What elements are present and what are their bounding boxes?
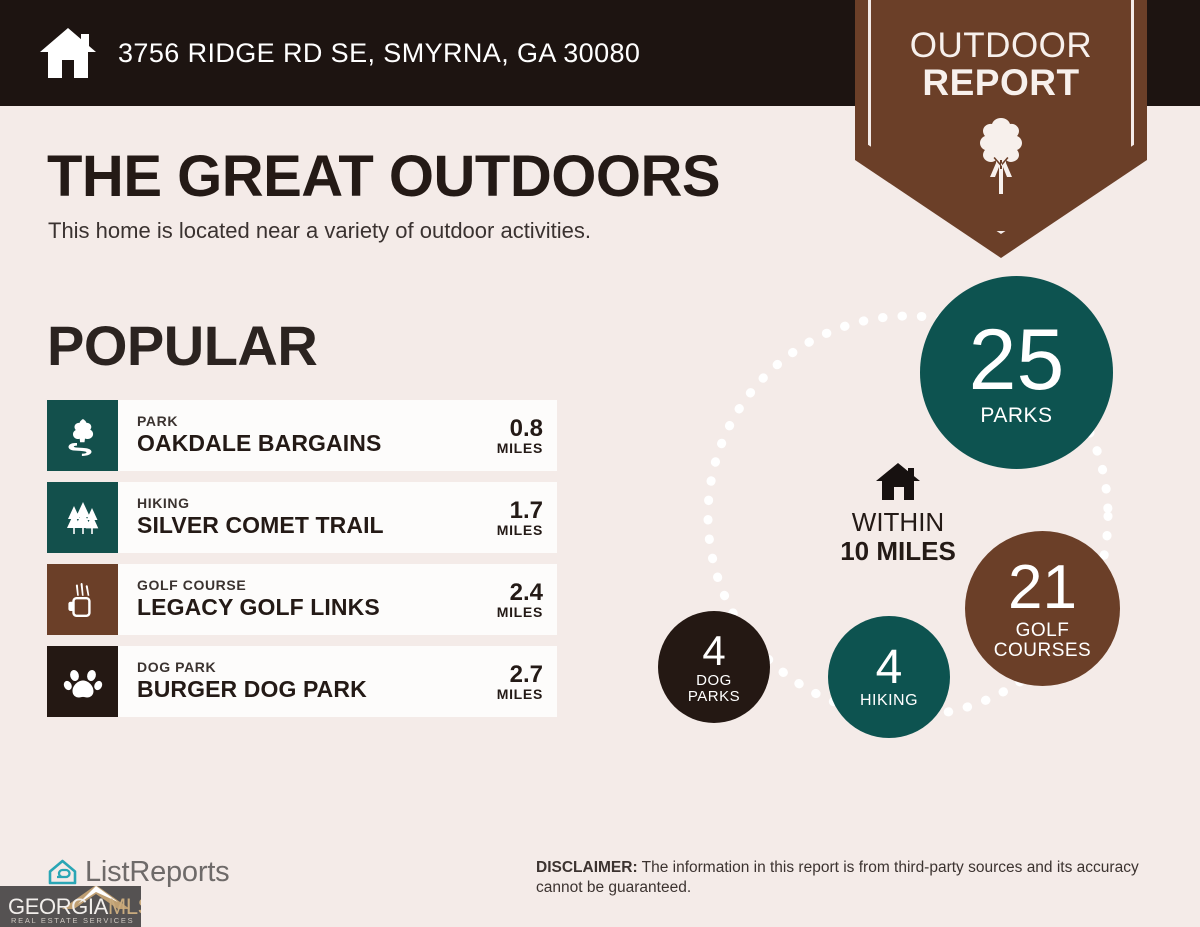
stat-label: HIKING bbox=[860, 693, 918, 710]
poi-distance: 0.8 MILES bbox=[497, 416, 543, 456]
park-tree-icon bbox=[63, 416, 103, 456]
house-outline-icon bbox=[47, 857, 78, 888]
poi-distance-value: 1.7 bbox=[497, 498, 543, 523]
poi-icon-tile bbox=[47, 482, 118, 553]
poi-distance: 1.7 MILES bbox=[497, 498, 543, 538]
outdoor-report-badge: OUTDOOR REPORT bbox=[855, 0, 1147, 258]
stat-count: 4 bbox=[702, 630, 725, 672]
poi-category: GOLF COURSE bbox=[137, 577, 380, 595]
poi-name: OAKDALE BARGAINS bbox=[137, 430, 381, 458]
stat-count: 21 bbox=[1008, 557, 1077, 619]
poi-distance-value: 0.8 bbox=[497, 416, 543, 441]
property-address: 3756 RIDGE RD SE, SMYRNA, GA 30080 bbox=[118, 38, 640, 69]
poi-name: SILVER COMET TRAIL bbox=[137, 512, 384, 540]
list-item[interactable]: GOLF COURSE LEGACY GOLF LINKS 2.4 MILES bbox=[47, 564, 557, 635]
poi-name: BURGER DOG PARK bbox=[137, 676, 367, 704]
poi-icon-tile bbox=[47, 646, 118, 717]
poi-distance: 2.4 MILES bbox=[497, 580, 543, 620]
poi-body: HIKING SILVER COMET TRAIL 1.7 MILES bbox=[118, 482, 557, 553]
stat-bubble-hiking[interactable]: 4 HIKING bbox=[828, 616, 950, 738]
stat-bubble-dog-parks[interactable]: 4 DOG PARKS bbox=[658, 611, 770, 723]
amenities-diagram: 25 PARKS 21 GOLF COURSES 4 HIKING 4 DOG … bbox=[620, 276, 1180, 796]
page-title: THE GREAT OUTDOORS bbox=[47, 143, 720, 210]
poi-category: HIKING bbox=[137, 495, 384, 513]
disclaimer-label: DISCLAIMER: bbox=[536, 859, 638, 876]
stat-count: 25 bbox=[969, 317, 1065, 403]
poi-distance-unit: MILES bbox=[497, 687, 543, 702]
badge-line-1: OUTDOOR bbox=[855, 28, 1147, 64]
diagram-center-label: WITHIN 10 MILES bbox=[798, 462, 998, 565]
poi-distance-value: 2.7 bbox=[497, 662, 543, 687]
poi-distance-value: 2.4 bbox=[497, 580, 543, 605]
disclaimer: DISCLAIMER: The information in this repo… bbox=[536, 858, 1166, 899]
poi-category: PARK bbox=[137, 413, 381, 431]
home-icon bbox=[875, 462, 921, 502]
stat-label: GOLF COURSES bbox=[994, 621, 1091, 661]
georgia-mls-watermark: GEORGIAMLS REAL ESTATE SERVICES bbox=[0, 886, 141, 927]
badge-line-2: REPORT bbox=[855, 64, 1147, 102]
listreports-logo[interactable]: ListReports bbox=[47, 856, 229, 889]
poi-body: DOG PARK BURGER DOG PARK 2.7 MILES bbox=[118, 646, 557, 717]
stat-bubble-parks[interactable]: 25 PARKS bbox=[920, 276, 1113, 469]
header-content: 3756 RIDGE RD SE, SMYRNA, GA 30080 bbox=[38, 26, 640, 80]
poi-name: LEGACY GOLF LINKS bbox=[137, 594, 380, 622]
poi-icon-tile bbox=[47, 400, 118, 471]
pine-trees-icon bbox=[63, 498, 103, 538]
section-heading-popular: POPULAR bbox=[47, 313, 317, 378]
list-item[interactable]: PARK OAKDALE BARGAINS 0.8 MILES bbox=[47, 400, 557, 471]
center-line-2: 10 MILES bbox=[798, 537, 998, 566]
list-item[interactable]: HIKING SILVER COMET TRAIL 1.7 MILES bbox=[47, 482, 557, 553]
golf-bag-icon bbox=[63, 580, 103, 620]
poi-icon-tile bbox=[47, 564, 118, 635]
poi-distance-unit: MILES bbox=[497, 605, 543, 620]
poi-body: PARK OAKDALE BARGAINS 0.8 MILES bbox=[118, 400, 557, 471]
stat-label: DOG PARKS bbox=[688, 673, 740, 705]
page-subtitle: This home is located near a variety of o… bbox=[48, 218, 591, 244]
popular-list: PARK OAKDALE BARGAINS 0.8 MILES HIKING S… bbox=[47, 400, 557, 728]
poi-distance: 2.7 MILES bbox=[497, 662, 543, 702]
poi-distance-unit: MILES bbox=[497, 523, 543, 538]
poi-category: DOG PARK bbox=[137, 659, 367, 677]
tree-icon bbox=[970, 116, 1032, 198]
poi-body: GOLF COURSE LEGACY GOLF LINKS 2.4 MILES bbox=[118, 564, 557, 635]
list-item[interactable]: DOG PARK BURGER DOG PARK 2.7 MILES bbox=[47, 646, 557, 717]
stat-label: PARKS bbox=[980, 405, 1052, 427]
stat-count: 4 bbox=[876, 644, 903, 692]
home-icon bbox=[38, 26, 98, 80]
mls-subtitle: REAL ESTATE SERVICES bbox=[11, 916, 134, 925]
poi-distance-unit: MILES bbox=[497, 441, 543, 456]
listreports-name: ListReports bbox=[85, 856, 229, 889]
paw-print-icon bbox=[63, 662, 103, 702]
badge-title: OUTDOOR REPORT bbox=[855, 28, 1147, 101]
center-line-1: WITHIN bbox=[798, 508, 998, 537]
